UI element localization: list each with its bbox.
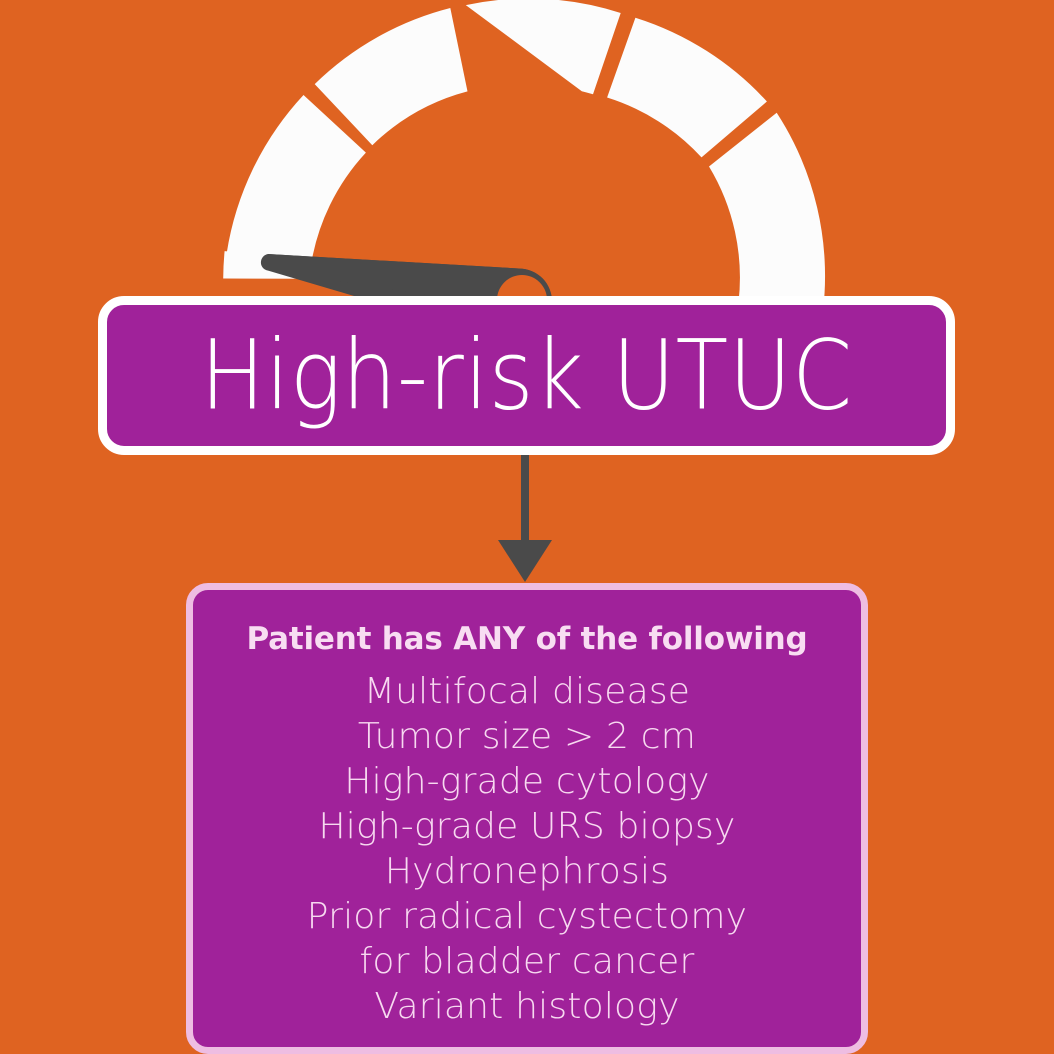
criteria-item: Tumor size > 2 cm — [193, 714, 861, 759]
criteria-item: Hydronephrosis — [193, 849, 861, 894]
title-banner[interactable]: High-risk UTUC — [98, 296, 955, 455]
criteria-item: Prior radical cystectomy — [193, 894, 861, 939]
gauge-segment-3 — [315, 8, 468, 145]
criteria-item: for bladder cancer — [193, 939, 861, 984]
criteria-item: Variant histology — [193, 984, 861, 1029]
gauge-segment-4 — [466, 0, 621, 94]
gauge-segment-6 — [709, 113, 825, 311]
gauge-segment-2 — [227, 95, 366, 266]
gauge-segment-5 — [607, 18, 767, 158]
gauge-segment-1 — [223, 251, 309, 279]
criteria-box: Patient has ANY of the following Multifo… — [186, 583, 868, 1054]
down-arrow-icon — [480, 452, 570, 587]
criteria-item: High-grade cytology — [193, 759, 861, 804]
criteria-item: Multifocal disease — [193, 669, 861, 714]
criteria-item: High-grade URS biopsy — [193, 804, 861, 849]
gauge-arc-segments — [223, 0, 825, 330]
criteria-heading: Patient has ANY of the following — [193, 624, 861, 655]
page-title: High-risk UTUC — [200, 327, 852, 423]
diagram-canvas: High-risk UTUC Patient has ANY of the fo… — [0, 0, 1054, 1054]
criteria-list: Multifocal disease Tumor size > 2 cm Hig… — [193, 669, 861, 1029]
